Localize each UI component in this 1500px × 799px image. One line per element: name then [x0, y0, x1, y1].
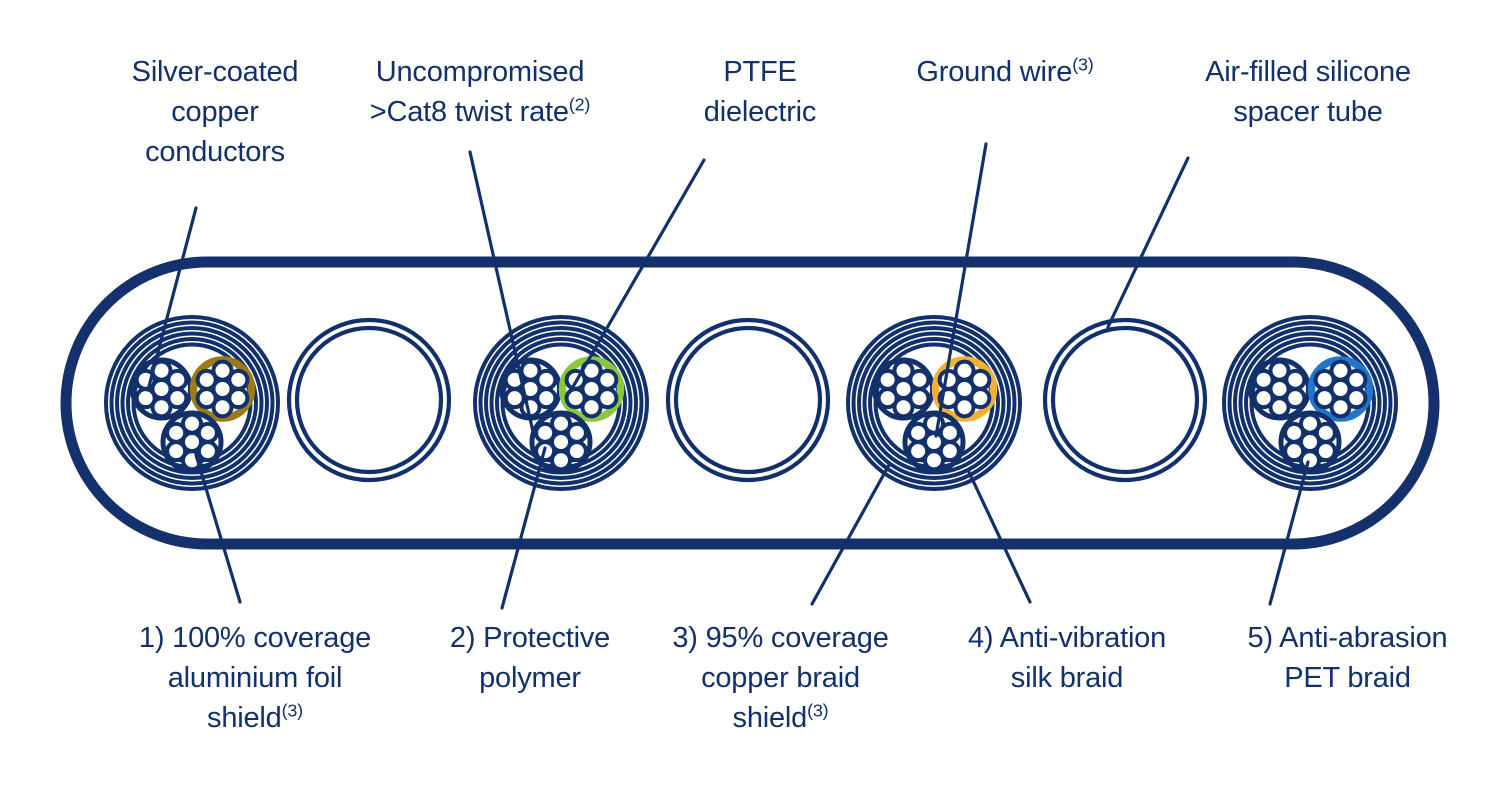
strand	[1347, 371, 1365, 389]
strand	[229, 371, 247, 389]
leader-silk-braid	[968, 470, 1030, 602]
top-label-uncompromised-twist-rate: Uncompromised>Cat8 twist rate(2)	[340, 52, 620, 132]
cable-unit-2	[475, 317, 647, 489]
conductor-bundle	[1251, 360, 1309, 418]
leader-lines-group	[148, 144, 1308, 608]
diagram-canvas: Silver-coatedcopperconductorsUncompromis…	[0, 0, 1500, 799]
top-label-ptfe-dielectric: PTFEdielectric	[655, 52, 865, 132]
conductor-bundle	[875, 360, 933, 418]
spacer-tube-outer-ring	[289, 320, 449, 480]
top-label-ground-wire: Ground wire(3)	[880, 52, 1130, 92]
conductor-bundle	[1312, 360, 1370, 418]
bottom-label-copper-braid-shield: 3) 95% coveragecopper braidshield(3)	[648, 618, 913, 738]
strand	[1255, 389, 1273, 407]
top-label-silver-coated-copper-conductors: Silver-coatedcopperconductors	[80, 52, 350, 172]
spacer-tube-inner-ring	[297, 328, 441, 472]
conductor-bundle	[163, 413, 221, 471]
conductor-bundle	[905, 413, 963, 471]
label-line: Ground wire(3)	[880, 52, 1130, 92]
label-line: >Cat8 twist rate(2)	[340, 92, 620, 132]
bottom-label-aluminium-foil-shield: 1) 100% coveragealuminium foilshield(3)	[110, 618, 400, 738]
cable-unit-1	[106, 317, 278, 489]
strand	[198, 389, 216, 407]
conductor-bundle	[502, 360, 560, 418]
label-line: 1) 100% coverage	[110, 618, 400, 658]
label-line: Silver-coated	[80, 52, 350, 92]
strand	[910, 371, 928, 389]
strand	[598, 371, 616, 389]
bottom-label-anti-vibration-silk-braid: 4) Anti-vibrationsilk braid	[932, 618, 1202, 698]
footnote-marker: (3)	[807, 700, 828, 720]
label-line: copper braid	[648, 658, 913, 698]
label-line: 4) Anti-vibration	[932, 618, 1202, 658]
label-line: spacer tube	[1158, 92, 1458, 132]
strand	[1317, 424, 1335, 442]
label-line: Air-filled silicone	[1158, 52, 1458, 92]
conductor-bundle	[133, 360, 191, 418]
strand	[537, 371, 555, 389]
conductor-bundle	[194, 360, 252, 418]
strand	[137, 389, 155, 407]
label-line: 5) Anti-abrasion	[1215, 618, 1480, 658]
cable-unit-3	[848, 317, 1020, 489]
strand	[879, 389, 897, 407]
strand	[168, 371, 186, 389]
label-line: conductors	[80, 132, 350, 172]
strand	[199, 424, 217, 442]
label-line: shield(3)	[110, 698, 400, 738]
label-line: 2) Protective	[415, 618, 645, 658]
label-line: polymer	[415, 658, 645, 698]
leader-braid-shield	[812, 465, 889, 604]
leader-spacer-tube	[1108, 158, 1188, 327]
label-line: copper	[80, 92, 350, 132]
footnote-marker: (3)	[282, 700, 303, 720]
spacer-tube-2	[668, 320, 828, 480]
strand	[909, 442, 927, 460]
strand	[1286, 371, 1304, 389]
top-label-air-filled-silicone-spacer-tube: Air-filled siliconespacer tube	[1158, 52, 1458, 132]
footnote-marker: (2)	[569, 94, 590, 114]
spacer-tubes-group	[289, 320, 1205, 480]
bottom-label-anti-abrasion-pet-braid: 5) Anti-abrasionPET braid	[1215, 618, 1480, 698]
label-line: dielectric	[655, 92, 865, 132]
spacer-tube-3	[1045, 320, 1205, 480]
spacer-tube-inner-ring	[676, 328, 820, 472]
label-line: aluminium foil	[110, 658, 400, 698]
label-line: silk braid	[932, 658, 1202, 698]
footnote-marker: (3)	[1072, 54, 1093, 74]
strand	[1285, 442, 1303, 460]
strand	[971, 371, 989, 389]
cable-units-group	[106, 317, 1396, 489]
label-line: shield(3)	[648, 698, 913, 738]
leader-ptfe	[570, 160, 704, 392]
strand	[941, 424, 959, 442]
strand	[1316, 389, 1334, 407]
label-line: PTFE	[655, 52, 865, 92]
spacer-tube-1	[289, 320, 449, 480]
strand	[568, 424, 586, 442]
cable-unit-4	[1224, 317, 1396, 489]
label-line: Uncompromised	[340, 52, 620, 92]
label-line: PET braid	[1215, 658, 1480, 698]
label-line: 3) 95% coverage	[648, 618, 913, 658]
strand	[167, 442, 185, 460]
spacer-tube-outer-ring	[1045, 320, 1205, 480]
conductor-bundle	[1281, 413, 1339, 471]
bottom-label-protective-polymer: 2) Protectivepolymer	[415, 618, 645, 698]
spacer-tube-inner-ring	[1053, 328, 1197, 472]
strand	[506, 389, 524, 407]
spacer-tube-outer-ring	[668, 320, 828, 480]
